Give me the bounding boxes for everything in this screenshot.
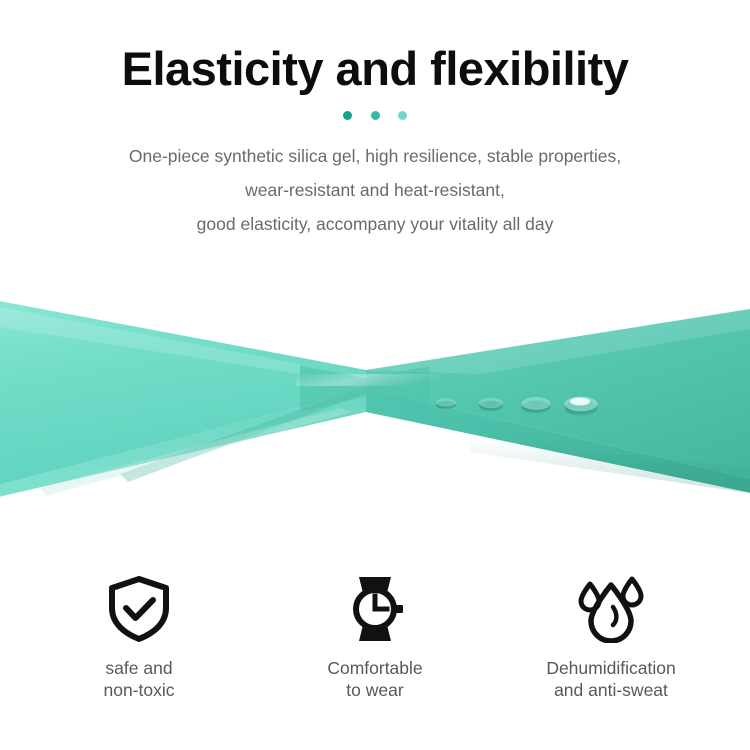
product-hero-image	[0, 262, 750, 527]
feature-item-comfort: Comfortable to wear	[257, 575, 493, 702]
feature-label-safe: safe and non-toxic	[103, 657, 174, 702]
divider-dot-1	[343, 111, 352, 120]
wristwatch-icon	[342, 575, 408, 643]
feature-label-dehumidification-line2: and anti-sweat	[546, 679, 675, 701]
description-block: One-piece synthetic silica gel, high res…	[0, 122, 750, 241]
feature-row: safe and non-toxic	[0, 575, 750, 715]
description-line-1: One-piece synthetic silica gel, high res…	[0, 139, 750, 173]
feature-label-comfort: Comfortable to wear	[327, 657, 422, 702]
feature-label-safe-line2: non-toxic	[103, 679, 174, 701]
feature-label-safe-line1: safe and	[103, 657, 174, 679]
feature-label-comfort-line2: to wear	[327, 679, 422, 701]
feature-label-dehumidification: Dehumidification and anti-sweat	[546, 657, 675, 702]
page-title: Elasticity and flexibility	[0, 0, 750, 95]
feature-item-dehumidification: Dehumidification and anti-sweat	[493, 575, 729, 702]
header-block: Elasticity and flexibility One-piece syn…	[0, 0, 750, 241]
water-droplets-icon	[573, 575, 649, 643]
product-feature-page: Elasticity and flexibility One-piece syn…	[0, 0, 750, 750]
divider-dot-3	[398, 111, 407, 120]
feature-label-comfort-line1: Comfortable	[327, 657, 422, 679]
divider-dots	[343, 95, 407, 122]
feature-label-dehumidification-line1: Dehumidification	[546, 657, 675, 679]
shield-check-icon	[106, 575, 172, 643]
description-line-3: good elasticity, accompany your vitality…	[0, 207, 750, 241]
twisted-band-illustration	[0, 262, 750, 527]
description-line-2: wear-resistant and heat-resistant,	[0, 173, 750, 207]
feature-item-safe: safe and non-toxic	[21, 575, 257, 702]
divider-dot-2	[371, 111, 380, 120]
